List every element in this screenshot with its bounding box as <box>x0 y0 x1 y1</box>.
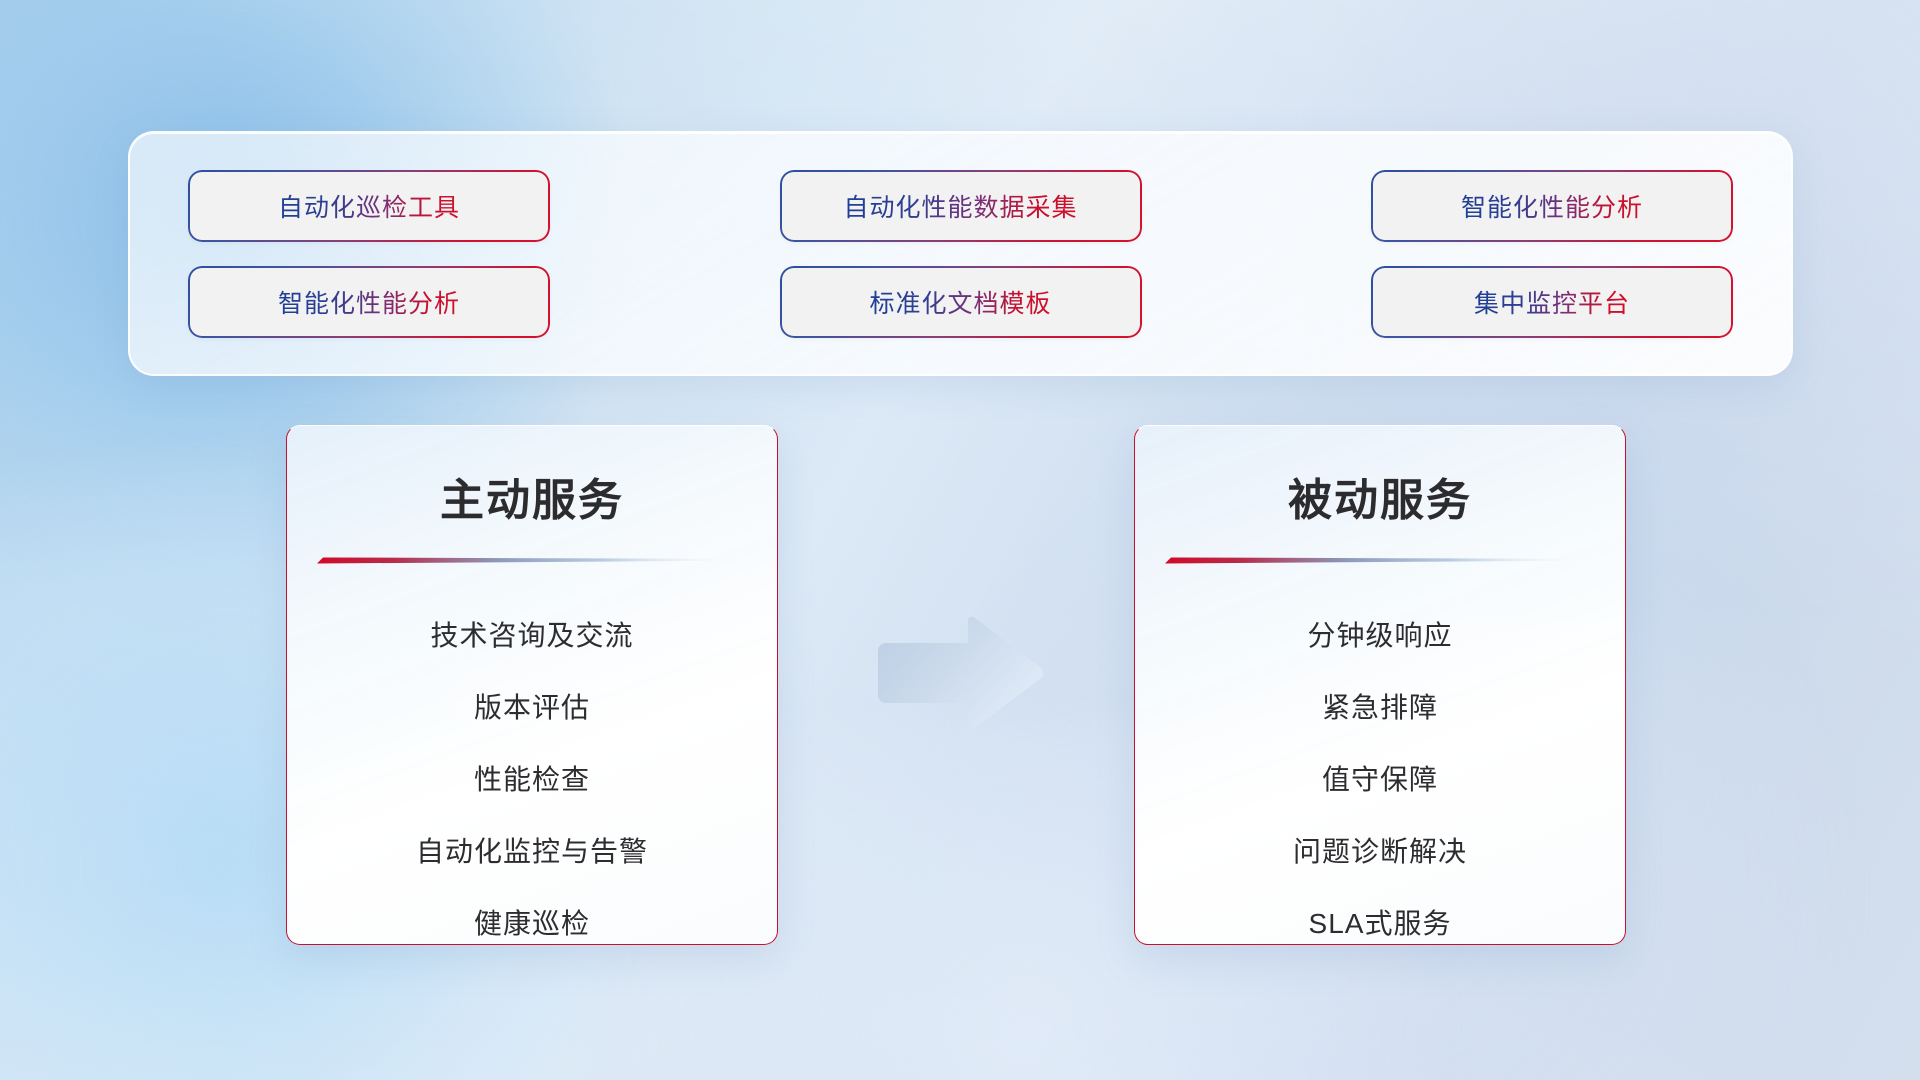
capability-tags-panel: 自动化巡检工具 自动化性能数据采集 智能化性能分析 智能化性能分析 标准化文档模… <box>128 131 1793 376</box>
capability-tag-label: 标准化文档模板 <box>869 284 1051 320</box>
capability-tag-label: 自动化性能数据采集 <box>843 188 1077 224</box>
service-card-proactive: 主动服务 技术咨询及交流 版本评估 性能检查 自动化监控与告警 健康巡检 <box>286 425 778 945</box>
arrow-right-icon <box>872 612 1046 734</box>
service-card-divider-reactive <box>1165 554 1595 566</box>
service-card-title-proactive: 主动服务 <box>287 464 777 528</box>
service-list-proactive: 技术咨询及交流 版本评估 性能检查 自动化监控与告警 健康巡检 <box>287 600 777 945</box>
capability-tag-label: 集中监控平台 <box>1474 284 1630 320</box>
service-card-title-reactive: 被动服务 <box>1135 464 1625 528</box>
service-list-item: SLA式服务 <box>1309 888 1452 945</box>
service-list-item: 性能检查 <box>474 744 590 816</box>
capability-tag-row-2: 智能化性能分析 标准化文档模板 集中监控平台 <box>190 268 1731 336</box>
capability-tag-intelligent-performance-analysis-bottom[interactable]: 智能化性能分析 <box>190 268 548 336</box>
capability-tag-standardized-document-template[interactable]: 标准化文档模板 <box>782 268 1140 336</box>
service-card-reactive: 被动服务 分钟级响应 紧急排障 值守保障 问题诊断解决 SLA式服务 <box>1134 425 1626 945</box>
service-list-item: 紧急排障 <box>1322 672 1438 744</box>
service-list-item: 技术咨询及交流 <box>430 600 633 672</box>
service-list-item: 值守保障 <box>1322 744 1438 816</box>
service-list-item: 分钟级响应 <box>1307 600 1452 672</box>
capability-tag-intelligent-performance-analysis-top[interactable]: 智能化性能分析 <box>1373 172 1731 240</box>
capability-tag-automation-inspection-tool[interactable]: 自动化巡检工具 <box>190 172 548 240</box>
capability-tag-label: 自动化巡检工具 <box>278 188 460 224</box>
capability-tag-label: 智能化性能分析 <box>1461 188 1643 224</box>
capability-tag-row-1: 自动化巡检工具 自动化性能数据采集 智能化性能分析 <box>190 172 1731 240</box>
service-list-item: 健康巡检 <box>474 888 590 945</box>
service-list-item: 版本评估 <box>474 672 590 744</box>
capability-tag-centralized-monitoring-platform[interactable]: 集中监控平台 <box>1373 268 1731 336</box>
service-list-item: 问题诊断解决 <box>1293 816 1467 888</box>
service-list-reactive: 分钟级响应 紧急排障 值守保障 问题诊断解决 SLA式服务 <box>1135 600 1625 945</box>
capability-tag-automation-performance-data-collection[interactable]: 自动化性能数据采集 <box>782 172 1140 240</box>
capability-tag-label: 智能化性能分析 <box>278 284 460 320</box>
service-list-item: 自动化监控与告警 <box>416 816 648 888</box>
service-card-divider-proactive <box>317 554 747 566</box>
